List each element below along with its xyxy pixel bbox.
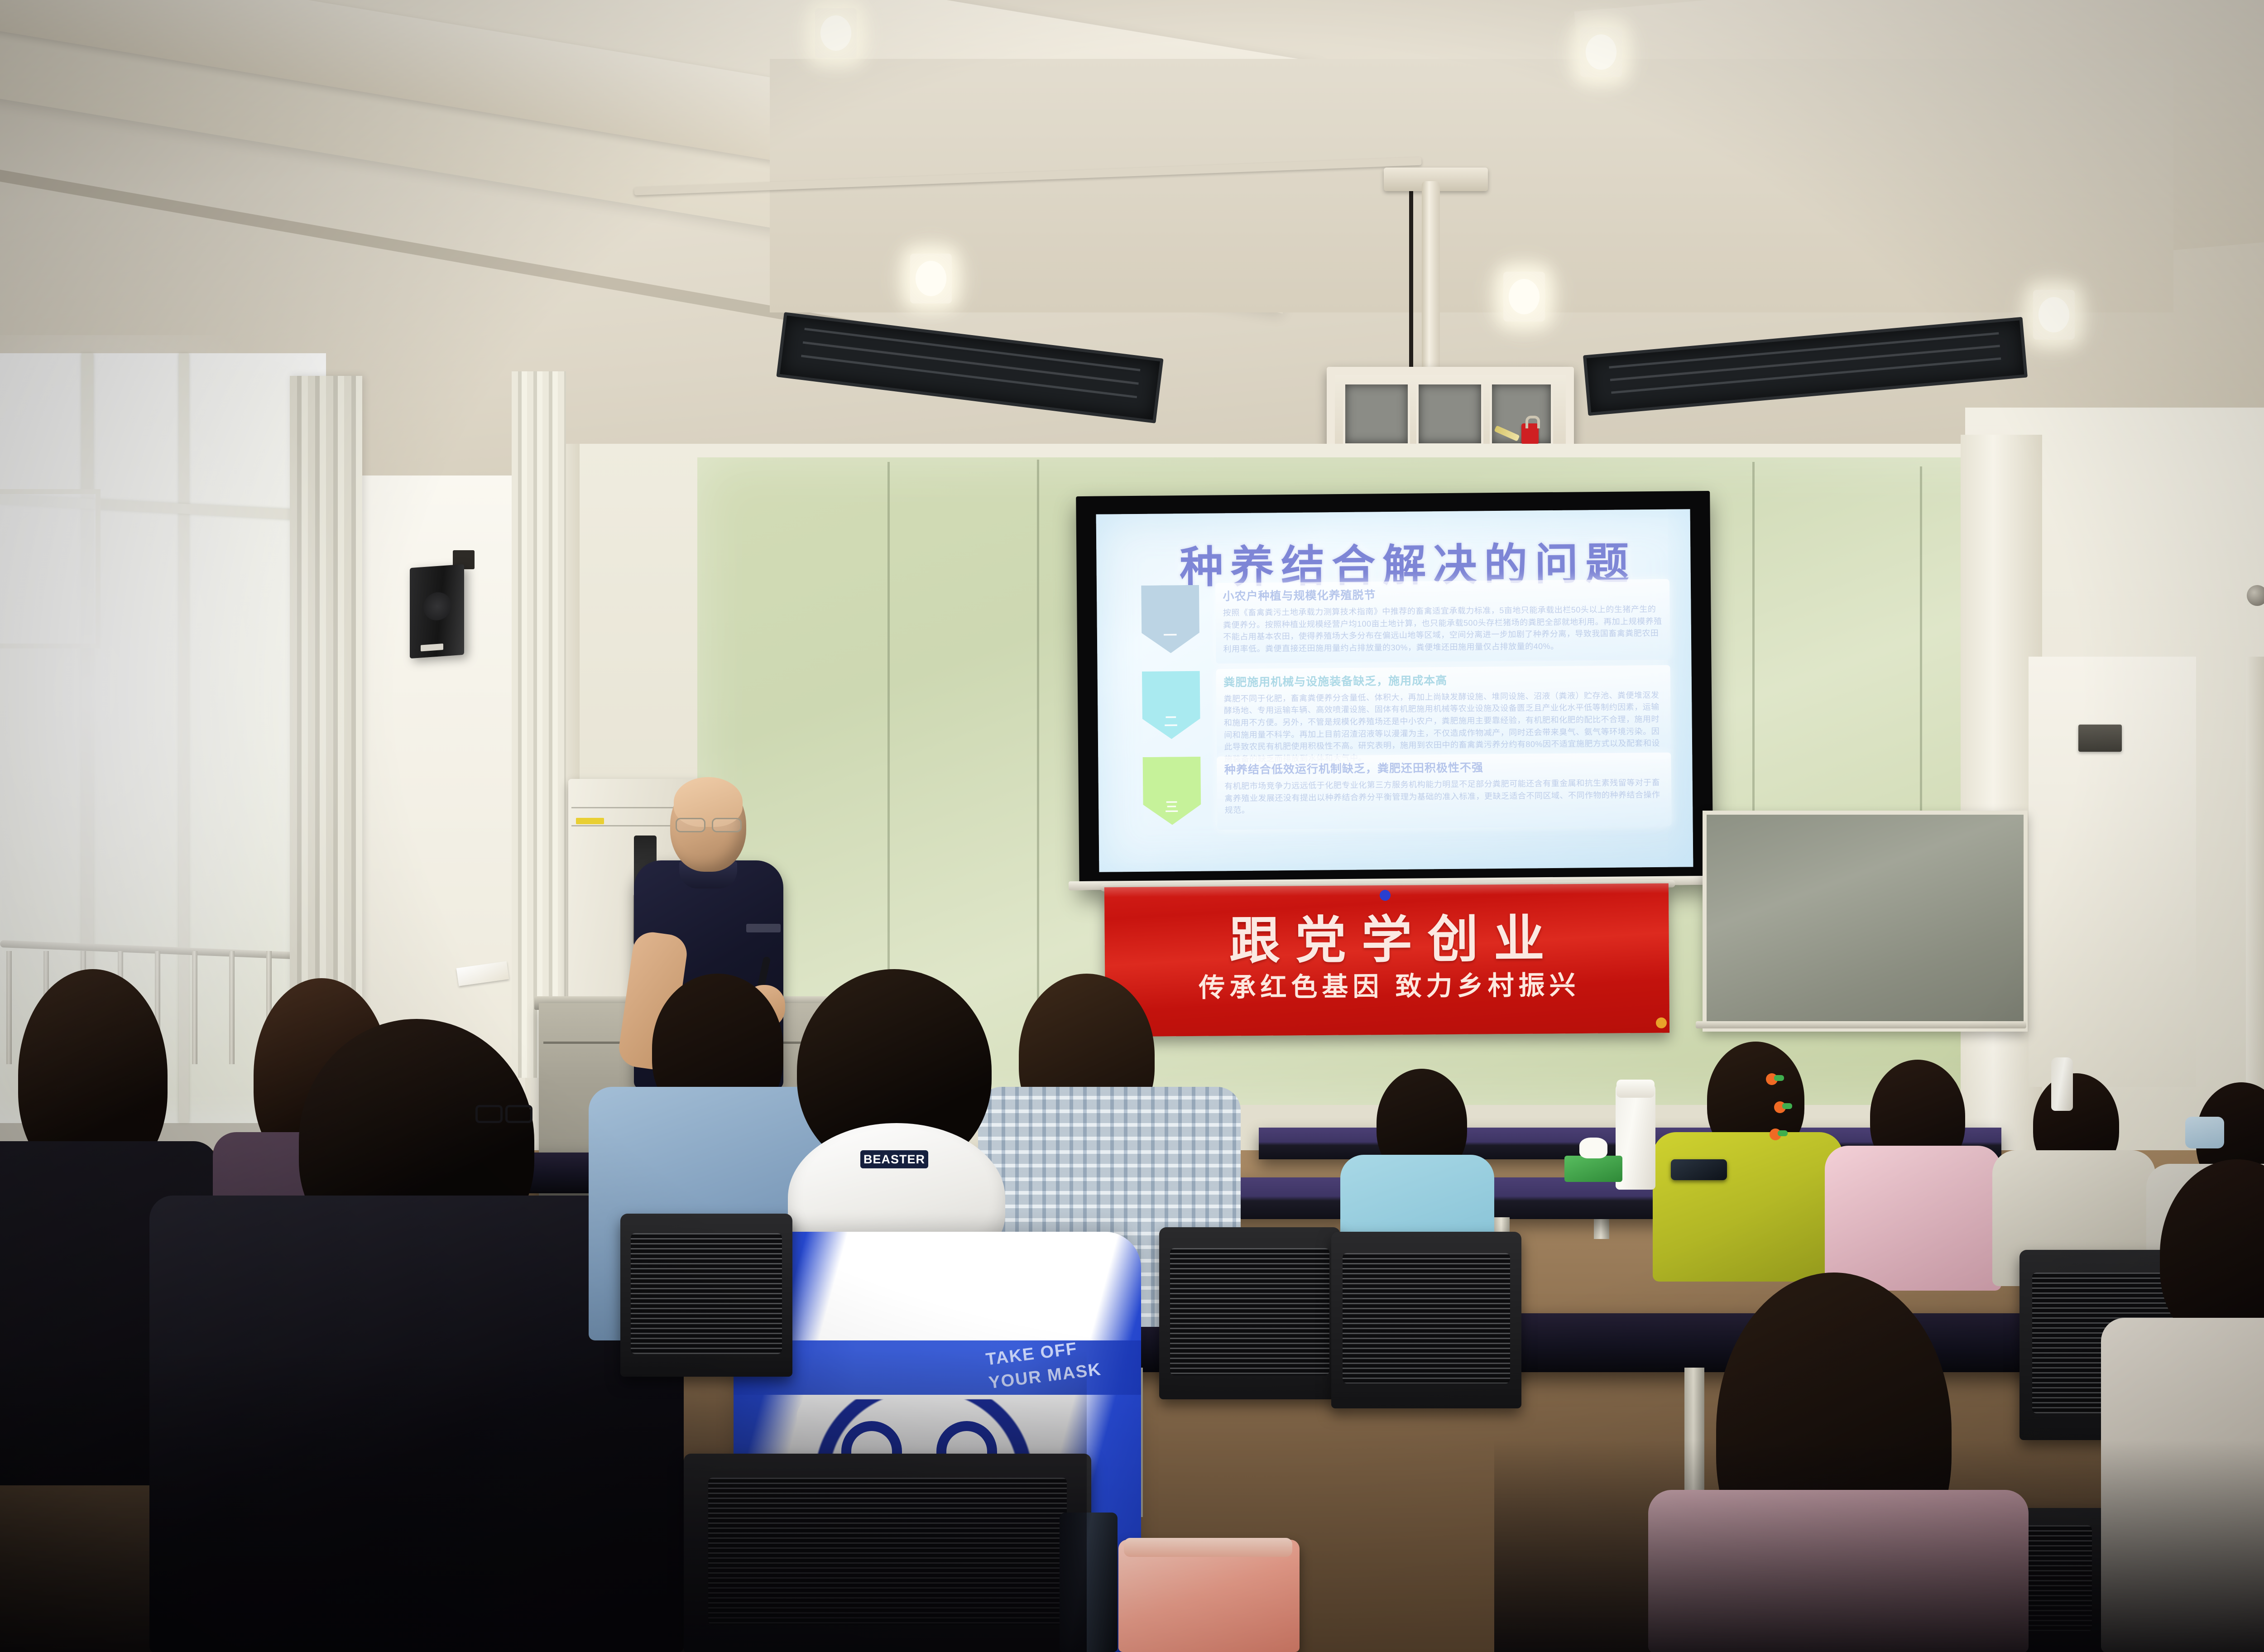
banner-pin-blue [1380, 890, 1391, 901]
hoodie-brand-label: BEASTER [860, 1150, 928, 1168]
face-mask [2185, 1117, 2224, 1148]
banner-pin-orange [1656, 1018, 1667, 1028]
projector-power-cable [1409, 178, 1413, 384]
speaker-cone [423, 591, 451, 621]
window-sash-open[interactable] [0, 489, 101, 648]
cage-window [1416, 382, 1483, 446]
water-bottle-small [2051, 1057, 2073, 1111]
cage-window [1343, 382, 1410, 446]
red-banner: 跟党学创业 传承红色基因 致力乡村振兴 [1104, 884, 1669, 1037]
glasses-icon [475, 1105, 530, 1120]
tissue-pack [1564, 1156, 1622, 1182]
ceiling-downlight [910, 254, 952, 303]
audience-torso [1825, 1146, 2001, 1291]
ac-sticker-yellow [576, 818, 604, 824]
banner-sub-text: 传承红色基因 致力乡村振兴 [1105, 963, 1669, 1005]
carrot-hair-clip [1766, 1073, 1778, 1085]
projector-padlock-icon [1521, 423, 1539, 444]
audience-torso [1653, 1132, 1843, 1282]
classroom-scene: 种养结合解决的问题 一 二 三 小农户种植与规模化养殖脱节 按照《畜禽粪污土地承… [0, 0, 2264, 1652]
slide-block-body: 按照《畜禽粪污土地承载力测算技术指南》中推荐的畜禽适宜承载力标准，5亩地只能承载… [1223, 603, 1663, 655]
ceiling-downlight [2033, 290, 2075, 340]
security-camera-icon [2247, 585, 2264, 606]
ceiling-downlight [1503, 272, 1545, 322]
audience-torso [2101, 1318, 2264, 1652]
projection-screen-frame: 种养结合解决的问题 一 二 三 小农户种植与规模化养殖脱节 按照《畜禽粪污土地承… [1076, 491, 1713, 890]
window-curtain-right [512, 371, 566, 1078]
bottle-cap [1616, 1080, 1655, 1098]
chair[interactable] [684, 1454, 1091, 1652]
dark-bottle [1060, 1513, 1118, 1652]
chair[interactable] [620, 1214, 792, 1377]
ceiling-downlight [815, 8, 857, 58]
right-wall-lower-panel [2029, 657, 2196, 1087]
wall-speaker-icon [410, 564, 464, 658]
chevron-numeral: 二 [1142, 710, 1200, 730]
audience-torso-front [1648, 1490, 2029, 1652]
slide-text-block-3: 种养结合低效运行机制缺乏，粪肥还田积极性不强 有机肥市场竞争力远远低于化肥专业化… [1217, 753, 1672, 830]
projection-screen: 种养结合解决的问题 一 二 三 小农户种植与规模化养殖脱节 按照《畜禽粪污土地承… [1096, 509, 1693, 872]
projector-mount-pole [1422, 181, 1440, 374]
chevron-numeral: 三 [1143, 796, 1201, 816]
slide-chevron-1: 一 [1141, 585, 1199, 653]
slide-chevron-2: 二 [1142, 671, 1200, 739]
chair[interactable] [1159, 1227, 1340, 1399]
slide-text-block-1: 小农户种植与规模化养殖脱节 按照《畜禽粪污土地承载力测算技术指南》中推荐的畜禽适… [1215, 579, 1670, 664]
smartphone [1671, 1159, 1727, 1180]
slide-block-heading: 粪肥施用机械与设施装备缺乏，施用成本高 [1223, 669, 1663, 689]
slide-block-body: 有机肥市场竞争力远远低于化肥专业化第三方服务机构能力明显不足部分粪肥可能还含有重… [1224, 777, 1664, 816]
carrot-hair-clip [1774, 1101, 1786, 1113]
slide-block-heading: 小农户种植与规模化养殖脱节 [1223, 584, 1662, 604]
slide-block-heading: 种养结合低效运行机制缺乏，粪肥还田积极性不强 [1224, 757, 1664, 777]
banner-main-text: 跟党学创业 [1104, 897, 1669, 975]
ceiling-downlight [1580, 27, 1622, 77]
whiteboard-marker-tray [1696, 1021, 2026, 1028]
chevron-numeral: 一 [1142, 624, 1199, 644]
chair[interactable] [1331, 1232, 1521, 1408]
tissue-sheet [1579, 1138, 1607, 1158]
presenter-shirt-logo [746, 924, 781, 932]
whiteboard [1703, 811, 2028, 1032]
carrot-hair-clip [1770, 1129, 1781, 1140]
slide-text-block-2: 粪肥施用机械与设施装备缺乏，施用成本高 粪肥不同于化肥，畜禽粪便养分含量低、体积… [1216, 665, 1671, 760]
wall-control-box[interactable] [2078, 725, 2122, 752]
slide-chevron-3: 三 [1143, 757, 1201, 825]
speaker-label [421, 644, 443, 651]
presenter-glasses-icon [676, 818, 745, 831]
lunch-box-lid [1124, 1538, 1292, 1557]
